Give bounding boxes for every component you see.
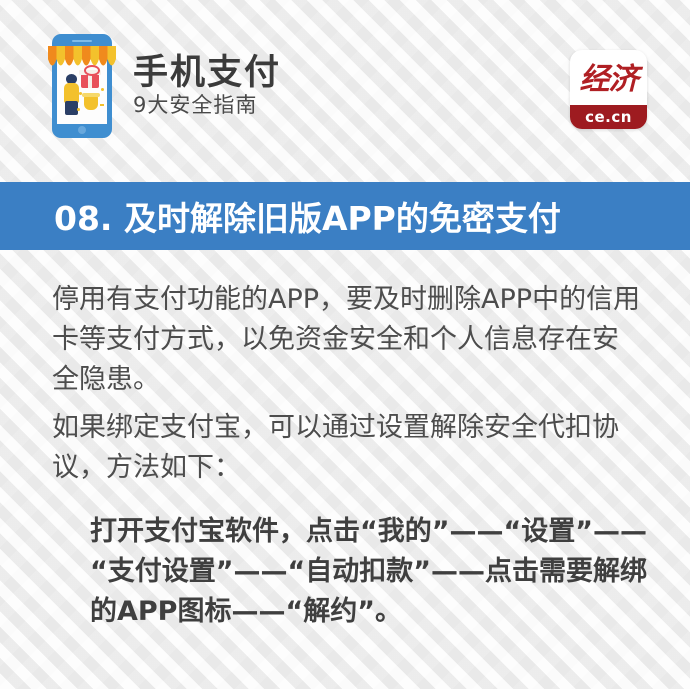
body-paragraph-2: 如果绑定支付宝，可以通过设置解除安全代扣协议，方法如下： bbox=[52, 408, 644, 488]
cecn-logo: 经济 ce.cn bbox=[570, 50, 647, 129]
drink-cup-shape bbox=[84, 96, 98, 110]
page-header: 手机支付 9大安全指南 经济 ce.cn bbox=[0, 0, 690, 182]
brand-subtitle: 9大安全指南 bbox=[133, 94, 281, 117]
phone-home-button-shape bbox=[78, 126, 86, 134]
mobile-payment-shop-illustration-icon bbox=[52, 34, 112, 138]
cecn-logo-glyphs: 经济 bbox=[570, 57, 647, 102]
body-paragraph-1: 停用有支付功能的APP，要及时删除APP中的信用卡等支付方式，以免资金安全和个人… bbox=[52, 280, 644, 400]
cecn-logo-banner: ce.cn bbox=[570, 105, 647, 129]
gift-bow-shape bbox=[84, 65, 100, 76]
sparkle-shape-2 bbox=[101, 88, 104, 91]
drink-cup-lid-shape bbox=[82, 93, 100, 97]
section-heading-bar: 08. 及时解除旧版APP的免密支付 bbox=[0, 182, 690, 250]
person-legs-shape bbox=[65, 101, 78, 115]
sparkle-shape-3 bbox=[100, 104, 104, 106]
phone-speaker-shape bbox=[72, 40, 92, 42]
section-heading-title: 08. 及时解除旧版APP的免密支付 bbox=[54, 192, 561, 240]
page-canvas: 手机支付 9大安全指南 经济 ce.cn 08. 及时解除旧版APP的免密支付 … bbox=[0, 0, 690, 689]
body-paragraph-3-steps: 打开支付宝软件，点击“我的”——“设置”——“支付设置”——“自动扣款”——点击… bbox=[90, 512, 652, 632]
person-body-shape bbox=[64, 83, 79, 103]
brand-title: 手机支付 bbox=[133, 55, 281, 92]
sparkle-shape-4 bbox=[77, 108, 80, 111]
brand-text-block: 手机支付 9大安全指南 bbox=[133, 55, 281, 118]
shop-awning-icon bbox=[48, 46, 116, 72]
brand-block: 手机支付 9大安全指南 bbox=[52, 34, 281, 138]
